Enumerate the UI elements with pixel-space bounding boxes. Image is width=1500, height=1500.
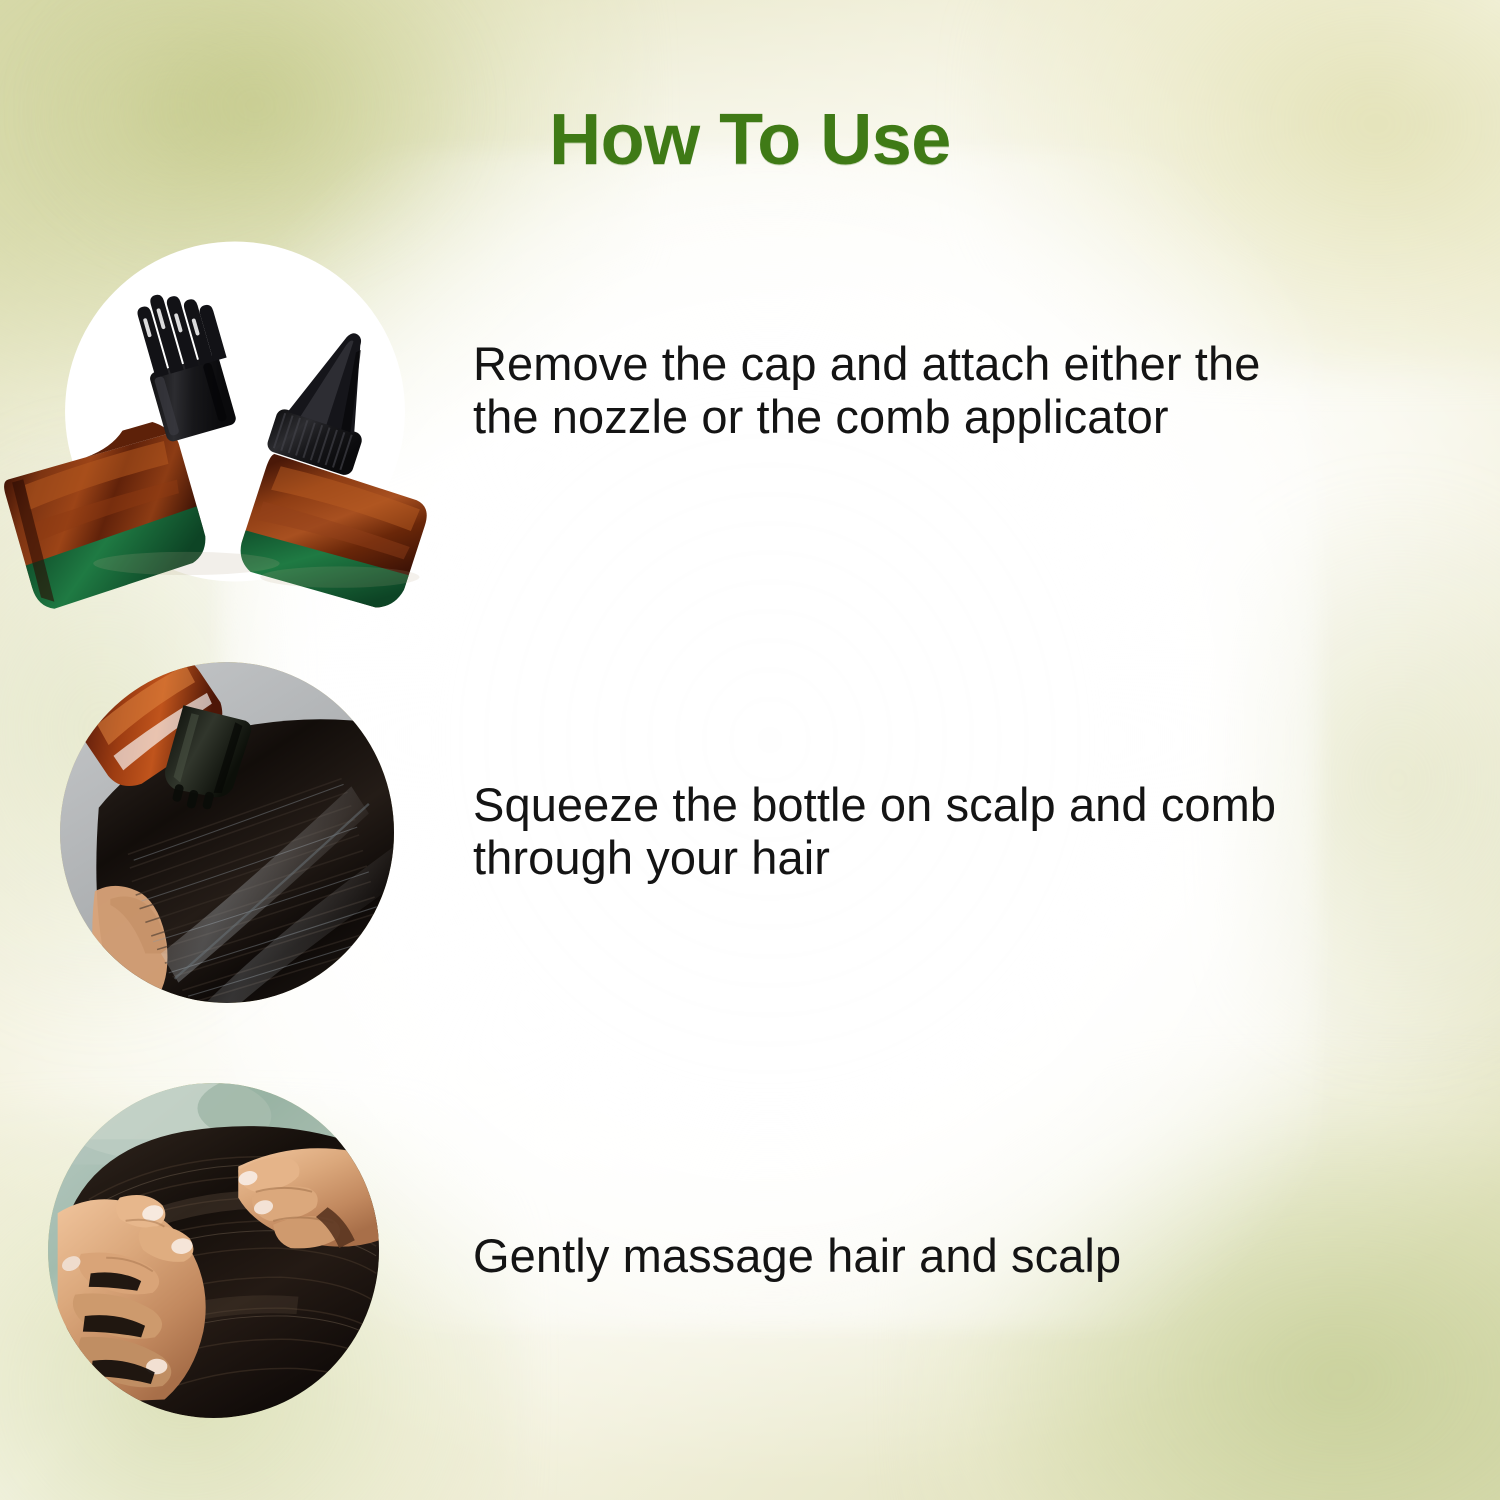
step-2-photo-clip: [60, 662, 394, 1003]
bottles-with-comb-and-nozzle-applicator-photo: [70, 243, 400, 580]
hands-massaging-scalp-photo: [48, 1083, 379, 1418]
step-1-photo-clip: [70, 243, 400, 580]
step-3-photo-frame: [48, 1083, 379, 1418]
how-to-use-infographic: How To Use: [0, 0, 1500, 1500]
page-title: How To Use: [0, 104, 1500, 176]
step-3-instruction-text: Gently massage hair and scalp: [473, 1229, 1373, 1282]
step-1-instruction-text: Remove the cap and attach either the the…: [473, 337, 1373, 443]
bottle-applied-to-scalp-parting-photo: [60, 662, 394, 1003]
step-3-photo-clip: [48, 1083, 379, 1418]
step-2-photo-frame: [60, 662, 394, 1003]
background-wash-top-right: [970, 0, 1500, 370]
step-1-photo-frame: [70, 243, 400, 580]
step-2-instruction-text: Squeeze the bottle on scalp and comb thr…: [473, 778, 1373, 884]
